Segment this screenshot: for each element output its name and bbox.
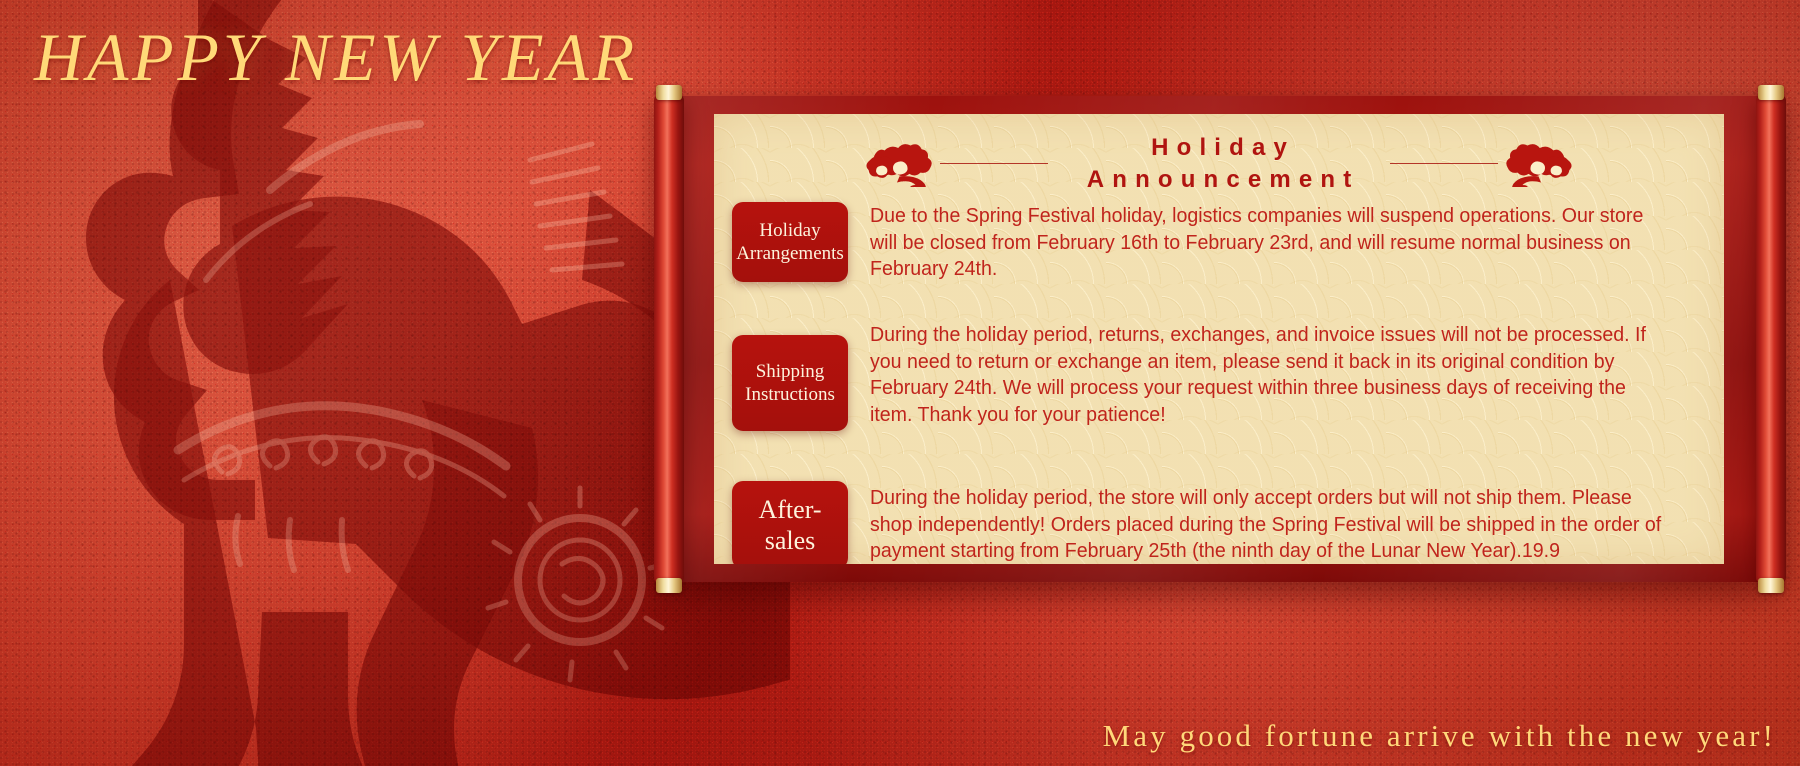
section-label-after-sales: After-sales [732, 481, 848, 564]
announcement-sections: HolidayArrangements Due to the Spring Fe… [732, 200, 1700, 564]
announcement-header: Holiday Announcement [714, 132, 1724, 195]
scroll-paper: Holiday Announcement Holid [714, 114, 1724, 564]
header-rule-right [1390, 163, 1498, 164]
section-label-holiday-arrangements: HolidayArrangements [732, 202, 848, 282]
header-rule-left [940, 163, 1048, 164]
announcement-title-line-2: Announcement [1054, 164, 1384, 196]
announcement-section: HolidayArrangements Due to the Spring Fe… [732, 200, 1700, 283]
section-label-shipping-instructions: ShippingInstructions [732, 335, 848, 431]
new-year-wish-text: May good fortune arrive with the new yea… [1103, 718, 1776, 754]
scroll-roller-right [1756, 92, 1786, 586]
section-text-after-sales: During the holiday period, the store wil… [870, 475, 1663, 564]
cloud-motif-icon-right [1504, 141, 1578, 187]
announcement-section: After-sales During the holiday period, t… [732, 475, 1700, 564]
announcement-section: ShippingInstructions During the holiday … [732, 321, 1700, 431]
roller-cap-bottom-left [656, 578, 682, 593]
section-text-shipping-instructions: During the holiday period, returns, exch… [870, 321, 1663, 429]
roller-cap-top-left [656, 85, 682, 100]
roller-cap-bottom-right [1758, 578, 1784, 593]
page-title: HAPPY NEW YEAR [34, 18, 638, 97]
scroll-roller-left [654, 92, 684, 586]
announcement-title: Holiday Announcement [1054, 132, 1384, 195]
section-text-holiday-arrangements: Due to the Spring Festival holiday, logi… [870, 200, 1663, 283]
announcement-scroll: Holiday Announcement Holid [652, 96, 1788, 582]
announcement-title-line-1: Holiday [1054, 132, 1384, 164]
cloud-motif-icon-left [860, 141, 934, 187]
roller-cap-top-right [1758, 85, 1784, 100]
